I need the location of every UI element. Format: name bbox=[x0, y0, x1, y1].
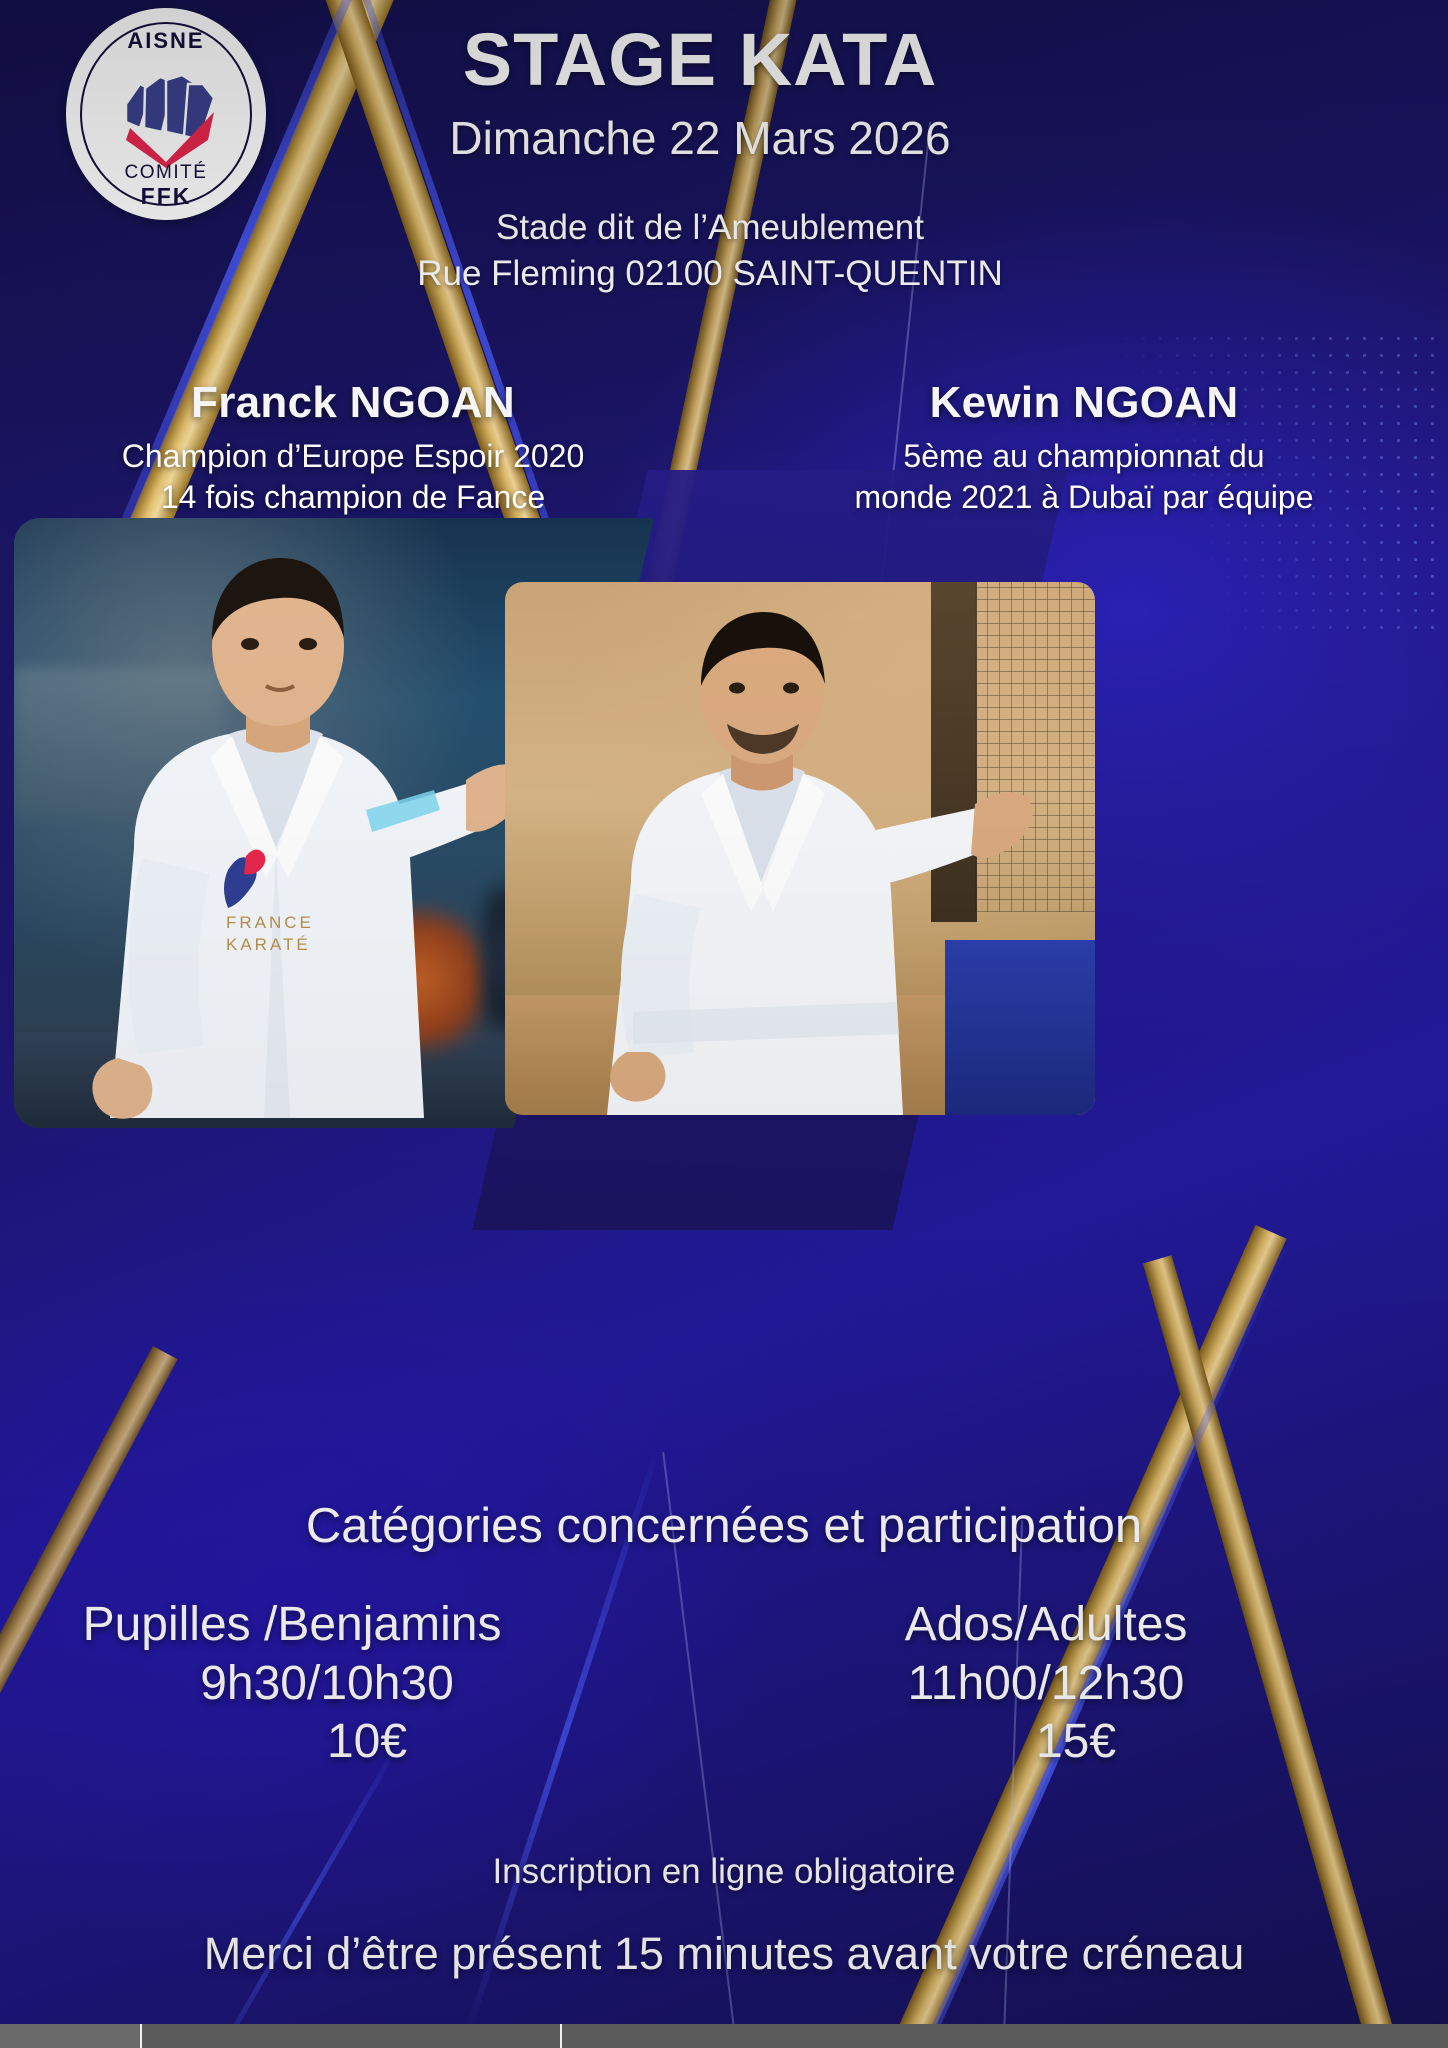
taskbar-divider-2 bbox=[560, 2024, 562, 2048]
category-price: 15€ bbox=[764, 1713, 1328, 1772]
athlete-franck: Franck NGOAN Champion d’Europe Espoir 20… bbox=[0, 378, 724, 518]
category-time: 11h00/12h30 bbox=[764, 1655, 1328, 1714]
kewin-figure bbox=[505, 582, 1095, 1115]
categories-columns: Pupilles /Benjamins 9h30/10h30 10€ Ados/… bbox=[0, 1596, 1448, 1772]
venue-block: Stade dit de l’Ameublement Rue Fleming 0… bbox=[360, 205, 1060, 297]
logo-top-text: AISNE bbox=[66, 28, 266, 54]
svg-text:FRANCE: FRANCE bbox=[226, 913, 314, 932]
venue-line-1: Stade dit de l’Ameublement bbox=[360, 205, 1060, 251]
svg-text:KARATÉ: KARATÉ bbox=[226, 935, 311, 954]
arrival-note: Merci d’être présent 15 minutes avant vo… bbox=[0, 1928, 1448, 1980]
categories-heading: Catégories concernées et participation bbox=[0, 1498, 1448, 1554]
logo-bottom-text-1: COMITÉ bbox=[66, 162, 266, 184]
category-time: 9h30/10h30 bbox=[0, 1655, 584, 1714]
ffk-aisne-logo: AISNE COMITÉ FFK bbox=[66, 8, 266, 220]
athlete-name: Franck NGOAN bbox=[10, 378, 696, 428]
taskbar-divider-1 bbox=[140, 2024, 142, 2048]
category-label: Ados/Adultes bbox=[764, 1596, 1328, 1655]
taskbar-segment-left bbox=[0, 2024, 140, 2048]
athlete-bio-line-2: monde 2021 à Dubaï par équipe bbox=[730, 477, 1438, 518]
athlete-kewin: Kewin NGOAN 5ème au championnat du monde… bbox=[724, 378, 1448, 518]
athlete-bio-line-1: Champion d’Europe Espoir 2020 bbox=[10, 436, 696, 477]
logo-bottom-text-2: FFK bbox=[66, 183, 266, 210]
os-taskbar bbox=[0, 2024, 1448, 2048]
athletes-row: Franck NGOAN Champion d’Europe Espoir 20… bbox=[0, 378, 1448, 518]
page-title: STAGE KATA bbox=[420, 22, 980, 97]
registration-note: Inscription en ligne obligatoire bbox=[0, 1852, 1448, 1892]
athlete-bio-line-1: 5ème au championnat du bbox=[730, 436, 1438, 477]
event-date: Dimanche 22 Mars 2026 bbox=[420, 111, 980, 165]
venue-line-2: Rue Fleming 02100 SAINT-QUENTIN bbox=[360, 251, 1060, 297]
category-label: Pupilles /Benjamins bbox=[0, 1596, 584, 1655]
category-price: 10€ bbox=[0, 1713, 584, 1772]
poster-canvas: AISNE COMITÉ FFK STAGE KATA Dimanche 22 … bbox=[0, 0, 1448, 2048]
kewin-ngoan-photo bbox=[505, 582, 1095, 1115]
category-group-pupilles: Pupilles /Benjamins 9h30/10h30 10€ bbox=[0, 1596, 724, 1772]
athlete-name: Kewin NGOAN bbox=[730, 378, 1438, 428]
header-block: STAGE KATA Dimanche 22 Mars 2026 bbox=[420, 22, 980, 165]
category-group-ados: Ados/Adultes 11h00/12h30 15€ bbox=[724, 1596, 1448, 1772]
karate-fist-icon bbox=[96, 60, 236, 170]
athlete-bio-line-2: 14 fois champion de Fance bbox=[10, 477, 696, 518]
